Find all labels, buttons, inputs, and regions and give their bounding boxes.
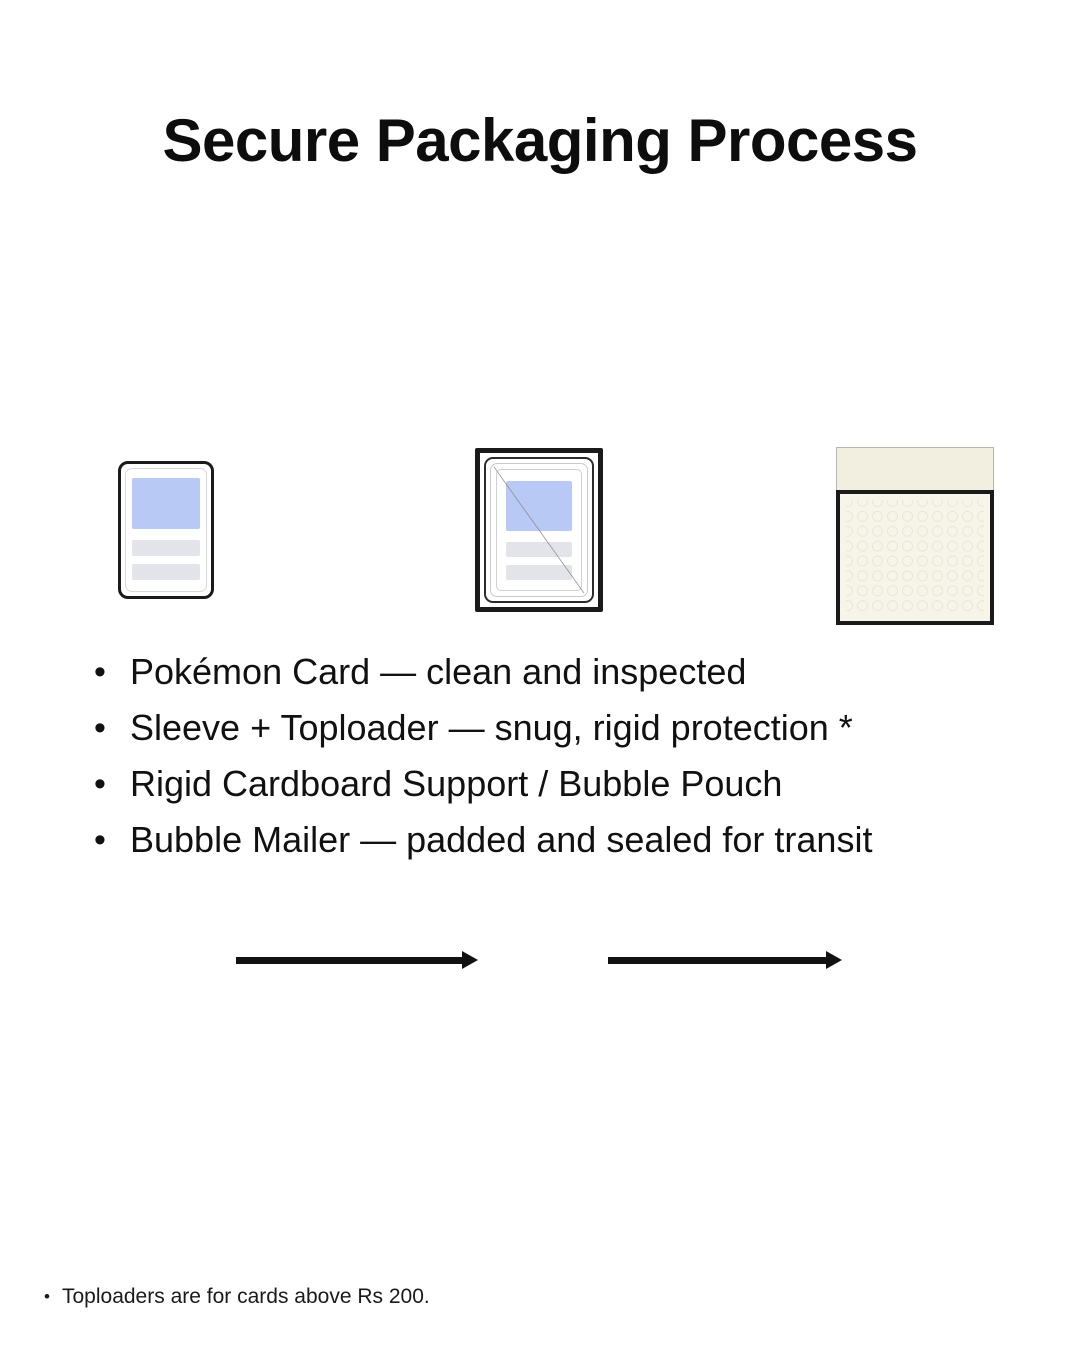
arrow-shaft	[236, 957, 464, 964]
card-in-toploader-icon	[475, 448, 603, 612]
card-text-line	[132, 540, 200, 556]
bubble-mailer-icon	[836, 447, 994, 625]
card-text-line	[506, 565, 572, 580]
list-item: • Rigid Cardboard Support / Bubble Pouch	[88, 758, 1048, 814]
toploader-sleeve-outline	[484, 457, 594, 603]
trading-card-icon	[496, 469, 582, 591]
footnote: • Toploaders are for cards above Rs 200.	[36, 1283, 430, 1311]
bullet-marker: •	[88, 702, 130, 754]
trading-card-icon	[118, 461, 214, 599]
arrow-right-icon	[236, 948, 478, 972]
packaging-steps-list: • Pokémon Card — clean and inspected • S…	[88, 646, 1048, 870]
card-text-line	[132, 564, 200, 580]
card-artwork-area	[506, 481, 572, 531]
packaging-flow-diagram	[0, 430, 1080, 620]
mailer-flap	[836, 447, 994, 491]
arrow-head	[826, 951, 842, 969]
footnote-bullet-marker: •	[36, 1283, 62, 1311]
card-artwork-area	[132, 478, 200, 529]
bullet-marker: •	[88, 758, 130, 810]
list-item: • Bubble Mailer — padded and sealed for …	[88, 814, 1048, 870]
list-item: • Pokémon Card — clean and inspected	[88, 646, 1048, 702]
list-item-label: Pokémon Card — clean and inspected	[130, 646, 746, 698]
list-item: • Sleeve + Toploader — snug, rigid prote…	[88, 702, 1048, 758]
bullet-marker: •	[88, 814, 130, 866]
arrow-shaft	[608, 957, 828, 964]
list-item-label: Bubble Mailer — padded and sealed for tr…	[130, 814, 872, 866]
page-title: Secure Packaging Process	[0, 108, 1080, 174]
bullet-marker: •	[88, 646, 130, 698]
arrow-head	[462, 951, 478, 969]
arrow-right-icon	[608, 948, 842, 972]
mailer-body	[836, 490, 994, 625]
list-item-label: Rigid Cardboard Support / Bubble Pouch	[130, 758, 782, 810]
bubble-wrap-pattern-icon	[840, 494, 990, 621]
footnote-label: Toploaders are for cards above Rs 200.	[62, 1283, 430, 1311]
card-text-line	[506, 542, 572, 557]
sleeve-inner-outline	[490, 463, 588, 597]
list-item-label: Sleeve + Toploader — snug, rigid protect…	[130, 702, 853, 754]
